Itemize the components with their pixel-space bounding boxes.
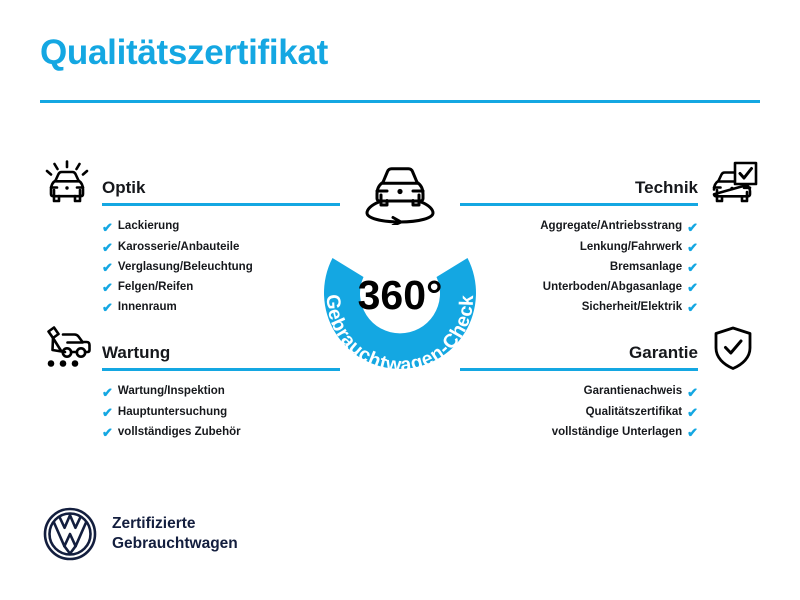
check-icon: ✔ [102, 386, 113, 399]
list-item-label: Unterboden/Abgasanlage [543, 282, 682, 294]
list-item-label: Wartung/Inspektion [118, 386, 225, 398]
check-icon: ✔ [687, 301, 698, 314]
check-icon: ✔ [687, 261, 698, 274]
check-icon: ✔ [102, 406, 113, 419]
section-wartung-title: Wartung [102, 343, 170, 363]
list-item-label: Hauptuntersuchung [118, 407, 227, 419]
check-icon: ✔ [102, 301, 113, 314]
car-front-rotate-icon [355, 157, 445, 225]
list-item-label: Verglasung/Beleuchtung [118, 262, 253, 274]
section-wartung-list: ✔Wartung/Inspektion ✔Hauptuntersuchung ✔… [40, 382, 340, 443]
list-item-label: Lackierung [118, 221, 179, 233]
section-technik: Technik Aggregate/Antriebsstrang✔ Lenkun… [460, 160, 760, 318]
list-item: ✔Hauptuntersuchung [102, 402, 340, 422]
vw-footer-lockup: Zertifizierte Gebrauchtwagen [42, 506, 238, 562]
check-icon: ✔ [687, 406, 698, 419]
car-service-pen-icon [40, 325, 94, 371]
list-item-label: Lenkung/Fahrwerk [580, 242, 682, 254]
check-icon: ✔ [687, 221, 698, 234]
list-item-label: Felgen/Reifen [118, 282, 193, 294]
page-title: Qualitätszertifikat [40, 34, 328, 73]
list-item-label: Innenraum [118, 302, 177, 314]
check-icon: ✔ [102, 281, 113, 294]
check-icon: ✔ [687, 426, 698, 439]
check-icon: ✔ [687, 281, 698, 294]
section-garantie-title: Garantie [629, 343, 698, 363]
car-checkbox-icon [706, 160, 760, 206]
list-item-label: Qualitätszertifikat [586, 407, 683, 419]
section-wartung-header: Wartung [40, 325, 340, 371]
car-shine-icon [40, 160, 94, 206]
section-garantie-header: Garantie [460, 325, 760, 371]
check-icon: ✔ [102, 241, 113, 254]
list-item: vollständige Unterlagen✔ [460, 422, 698, 442]
section-technik-header: Technik [460, 160, 760, 206]
list-item-label: Sicherheit/Elektrik [582, 302, 682, 314]
check-icon: ✔ [687, 241, 698, 254]
list-item: ✔vollständiges Zubehör [102, 422, 340, 442]
section-optik: Optik ✔Lackierung ✔Karosserie/Anbauteile… [40, 160, 340, 318]
check-icon: ✔ [687, 386, 698, 399]
section-optik-list: ✔Lackierung ✔Karosserie/Anbauteile ✔Verg… [40, 217, 340, 318]
vw-footer-line-2: Gebrauchtwagen [112, 534, 238, 554]
certificate-page: Qualitätszertifikat [0, 0, 800, 600]
section-garantie-list: Garantienachweis✔ Qualitätszertifikat✔ v… [460, 382, 760, 443]
vw-footer-line-1: Zertifizierte [112, 514, 238, 534]
section-wartung: Wartung ✔Wartung/Inspektion ✔Hauptunters… [40, 325, 340, 443]
section-garantie: Garantie Garantienachweis✔ Qualitätszert… [460, 325, 760, 443]
shield-check-icon [706, 325, 760, 371]
section-optik-header: Optik [40, 160, 340, 206]
vw-footer-text: Zertifizierte Gebrauchtwagen [112, 514, 238, 553]
check-icon: ✔ [102, 261, 113, 274]
list-item-label: Bremsanlage [610, 262, 682, 274]
list-item-label: Aggregate/Antriebsstrang [540, 221, 682, 233]
list-item: Qualitätszertifikat✔ [460, 402, 698, 422]
check-icon: ✔ [102, 221, 113, 234]
section-technik-title: Technik [635, 178, 698, 198]
section-technik-list: Aggregate/Antriebsstrang✔ Lenkung/Fahrwe… [460, 217, 760, 318]
list-item-label: vollständiges Zubehör [118, 427, 241, 439]
volkswagen-logo [42, 506, 98, 562]
badge-center-text: 360° [358, 272, 443, 318]
check-icon: ✔ [102, 426, 113, 439]
header-divider [40, 100, 760, 103]
list-item-label: Karosserie/Anbauteile [118, 242, 239, 254]
section-optik-title: Optik [102, 178, 145, 198]
list-item-label: vollständige Unterlagen [552, 427, 682, 439]
list-item-label: Garantienachweis [584, 386, 682, 398]
360-check-badge: Gebrauchtwagen-Check 360° [297, 195, 503, 401]
